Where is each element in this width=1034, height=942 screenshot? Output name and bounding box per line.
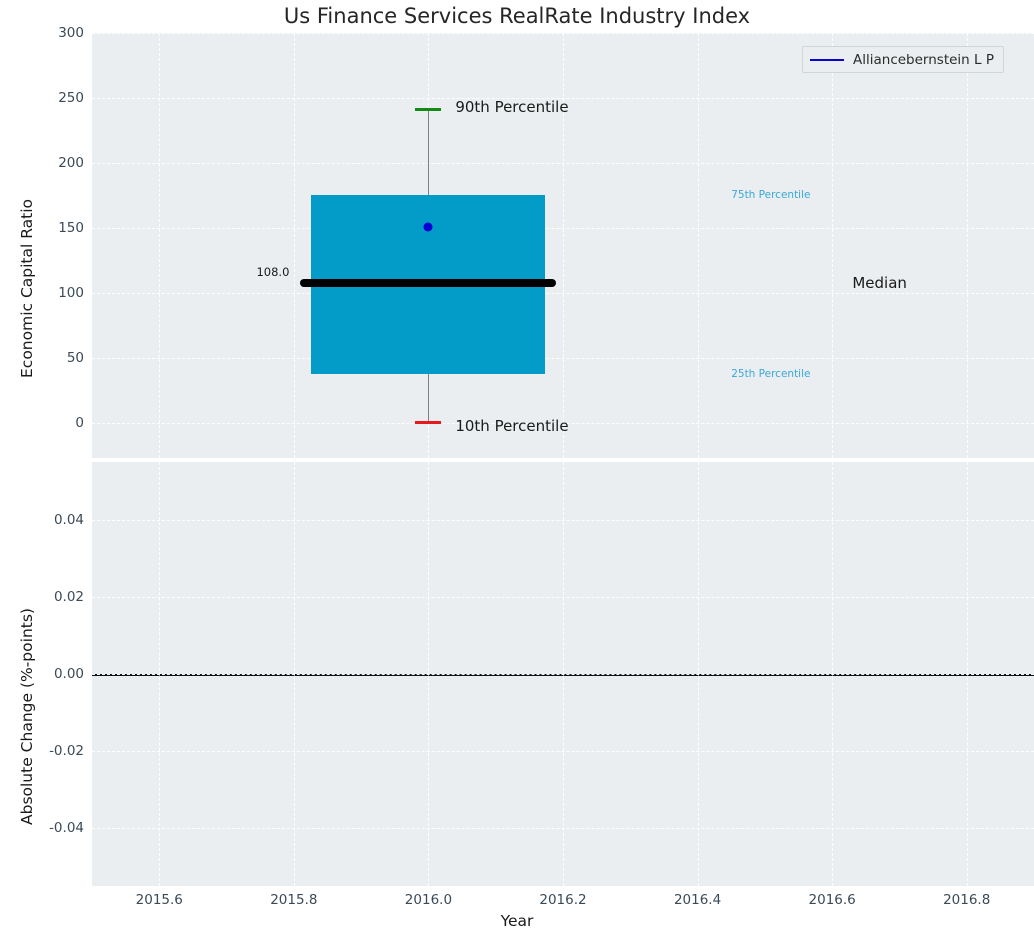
gridline-horizontal	[92, 228, 1034, 229]
y-tick-label: 0.02	[4, 589, 84, 605]
y-axis-label-bottom: Absolute Change (%-points)	[18, 608, 36, 825]
panel-absolute-change	[92, 462, 1034, 886]
x-axis-label: Year	[0, 912, 1034, 930]
gridline-horizontal	[92, 163, 1034, 164]
gridline-vertical	[294, 33, 295, 458]
gridline-vertical	[967, 33, 968, 458]
x-tick-label: 2016.2	[539, 892, 586, 908]
legend-item-label: Alliancebernstein L P	[853, 52, 994, 68]
annotation-75th-percentile: 75th Percentile	[731, 189, 810, 201]
gridline-vertical	[698, 33, 699, 458]
series-point-alliancebernstein[interactable]	[424, 222, 433, 231]
x-tick-label: 2016.8	[943, 892, 990, 908]
annotation-25th-percentile: 25th Percentile	[731, 368, 810, 380]
boxplot-cap-p90	[415, 108, 441, 111]
gridline-vertical	[159, 33, 160, 458]
panel-economic-capital-ratio: 108.090th Percentile10th PercentileMedia…	[92, 33, 1034, 458]
median-value-label: 108.0	[256, 265, 289, 279]
y-tick-label: 300	[4, 25, 84, 41]
y-axis-ticks-top: 050100150200250300	[0, 33, 84, 458]
chart-figure: Us Finance Services RealRate Industry In…	[0, 0, 1034, 942]
x-tick-label: 2015.8	[270, 892, 317, 908]
y-tick-label: -0.02	[4, 743, 84, 759]
y-tick-label: 250	[4, 90, 84, 106]
boxplot-median-bar[interactable]	[300, 279, 556, 287]
gridline-horizontal	[92, 828, 1034, 829]
gridline-horizontal	[92, 358, 1034, 359]
annotation-median: Median	[852, 274, 907, 292]
gridline-horizontal	[92, 520, 1034, 521]
annotation-10th-percentile: 10th Percentile	[455, 417, 568, 435]
x-tick-label: 2016.0	[405, 892, 452, 908]
boxplot-cap-p10	[415, 421, 441, 424]
gridline-horizontal	[92, 751, 1034, 752]
x-tick-label: 2015.6	[136, 892, 183, 908]
gridline-horizontal	[92, 597, 1034, 598]
y-tick-label: 0.00	[4, 666, 84, 682]
y-tick-label: 100	[4, 285, 84, 301]
y-tick-label: -0.04	[4, 820, 84, 836]
y-axis-ticks-bottom: 0.040.020.00-0.02-0.04	[0, 462, 84, 886]
y-tick-label: 0	[4, 415, 84, 431]
chart-legend[interactable]: Alliancebernstein L P	[802, 46, 1004, 73]
chart-title: Us Finance Services RealRate Industry In…	[0, 4, 1034, 28]
gridline-horizontal	[92, 293, 1034, 294]
annotation-90th-percentile: 90th Percentile	[455, 98, 568, 116]
y-tick-label: 150	[4, 220, 84, 236]
gridline-vertical	[563, 33, 564, 458]
y-tick-label: 0.04	[4, 512, 84, 528]
y-tick-label: 200	[4, 155, 84, 171]
legend-line-icon	[810, 59, 844, 61]
y-tick-label: 50	[4, 350, 84, 366]
gridline-vertical	[832, 33, 833, 458]
y-axis-label-top: Economic Capital Ratio	[18, 199, 36, 378]
x-tick-label: 2016.6	[809, 892, 856, 908]
x-tick-label: 2016.4	[674, 892, 721, 908]
gridline-horizontal	[92, 33, 1034, 34]
gridline-horizontal	[92, 674, 1034, 675]
